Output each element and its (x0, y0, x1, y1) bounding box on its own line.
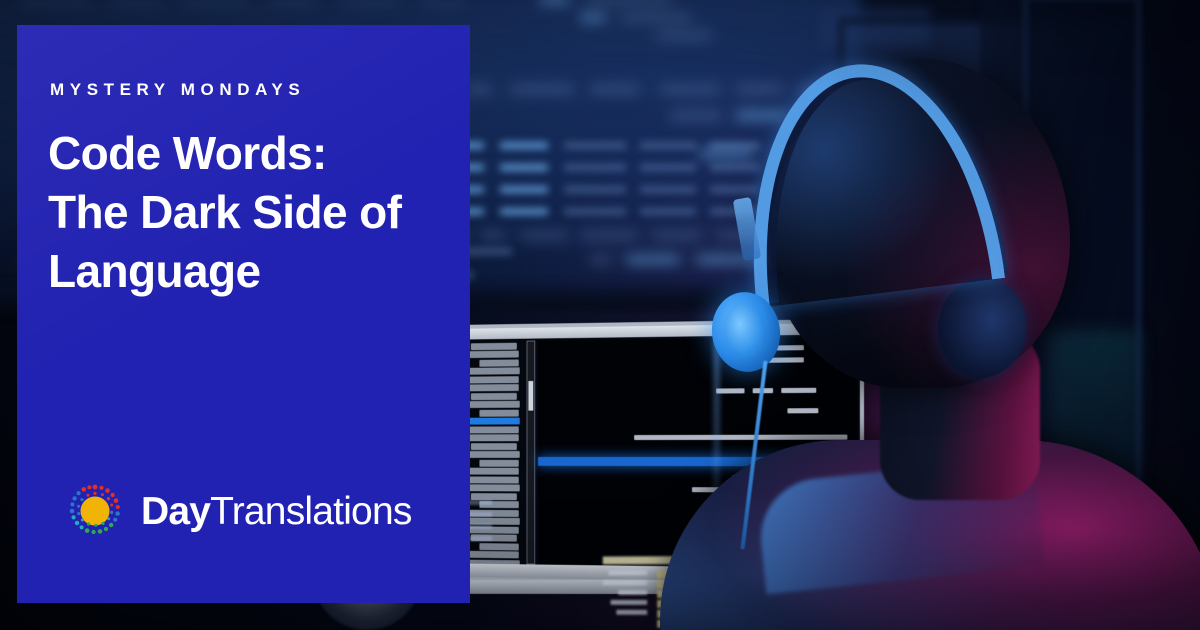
headline-line-2: The Dark Side of (48, 183, 468, 242)
series-kicker: MYSTERY MONDAYS (50, 81, 305, 98)
brand-panel: MYSTERY MONDAYS Code Words: The Dark Sid… (17, 25, 470, 603)
brand-name-bold: Day (141, 490, 210, 533)
sunburst-logo-icon (61, 477, 129, 545)
headline-line-3: Language (48, 242, 468, 301)
page-title: Code Words: The Dark Side of Language (48, 124, 468, 301)
headline-line-1: Code Words: (48, 124, 468, 183)
brand-logo[interactable]: DayTranslations (61, 477, 412, 545)
brand-name-light: Translations (210, 490, 411, 533)
banner-image: MYSTERY MONDAYS Code Words: The Dark Sid… (0, 0, 1200, 630)
brand-wordmark: DayTranslations (141, 492, 412, 531)
